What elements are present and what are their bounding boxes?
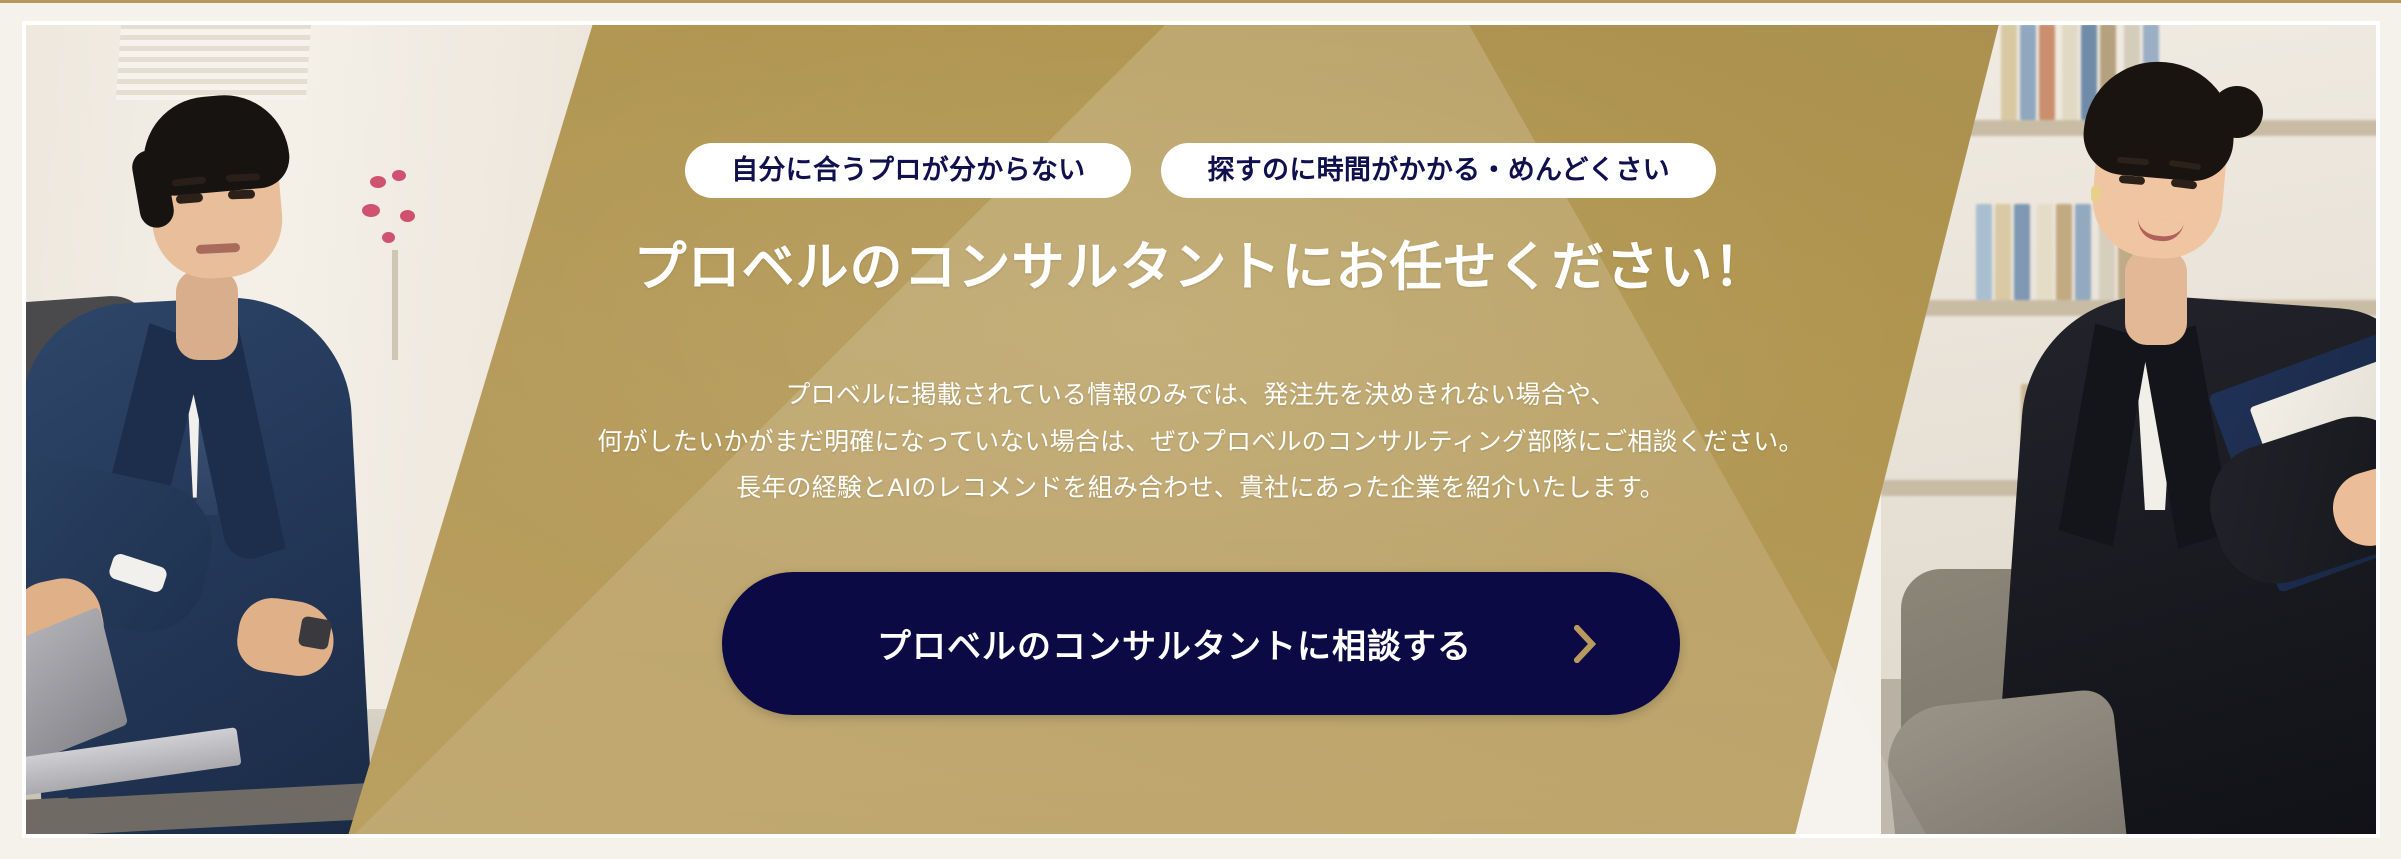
cta-button-label: プロベルのコンサルタントに相談する [877, 619, 1472, 668]
pain-point-pill-2: 探すのに時間がかかる・めんどくさい [1161, 143, 1715, 198]
frame-band-top [0, 3, 2401, 21]
consult-consultant-button[interactable]: プロベルのコンサルタントに相談する [722, 572, 1680, 715]
consultant-cta-banner: 自分に合うプロが分からない 探すのに時間がかかる・めんどくさい プロベルのコンサ… [0, 0, 2401, 859]
banner-description: プロベルに掲載されている情報のみでは、発注先を決めきれない場合や、 何がしたいか… [597, 379, 1803, 519]
banner-content: 自分に合うプロが分からない 探すのに時間がかかる・めんどくさい プロベルのコンサ… [0, 0, 2401, 859]
frame-band-left [0, 3, 22, 859]
pain-point-pill-1: 自分に合うプロが分からない [685, 143, 1131, 198]
description-line-1: プロベルに掲載されている情報のみでは、発注先を決めきれない場合や、 [597, 379, 1803, 413]
pain-point-pill-row: 自分に合うプロが分からない 探すのに時間がかかる・めんどくさい [685, 143, 1716, 198]
description-line-2: 何がしたいかがまだ明確になっていない場合は、ぜひプロベルのコンサルティング部隊に… [597, 426, 1803, 460]
description-line-3: 長年の経験とAIのレコメンドを組み合わせ、貴社にあった企業を紹介いたします。 [597, 472, 1803, 506]
frame-band-right [2380, 3, 2401, 859]
top-gold-rule [0, 0, 2401, 3]
banner-headline: プロベルのコンサルタントにお任せください！ [634, 225, 1768, 301]
frame-band-bottom [0, 838, 2401, 859]
chevron-right-icon [1574, 625, 1596, 663]
